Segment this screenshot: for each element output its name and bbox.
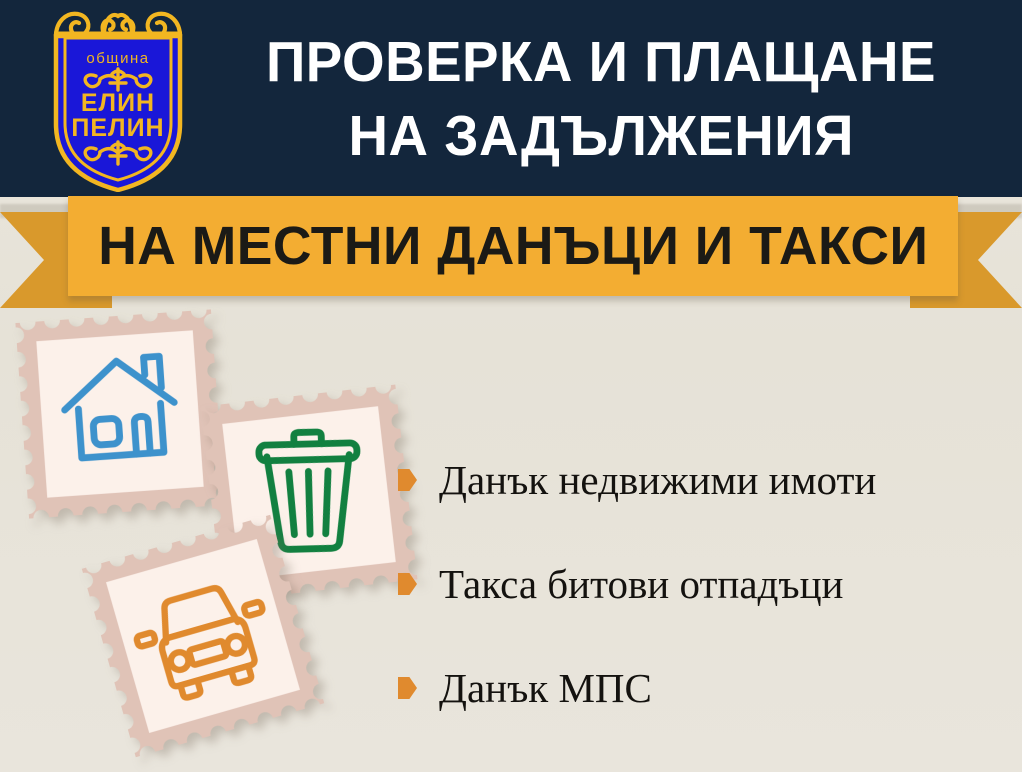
logo: община ЕЛИН ПЕЛИН: [42, 6, 194, 192]
bullet-arrow-icon: [398, 677, 417, 699]
list-item-label: Данък МПС: [439, 665, 652, 711]
page-title-line-1: ПРОВЕРКА И ПЛАЩАНЕ: [266, 25, 936, 99]
stamp-card-property-tax: [15, 309, 224, 518]
ribbon-main-band: НА МЕСТНИ ДАНЪЦИ И ТАКСИ: [68, 196, 958, 296]
poster-root: община ЕЛИН ПЕЛИН ПРОВЕРКА И ПЛАЩАНЕ НА …: [0, 0, 1022, 772]
header-title-group: ПРОВЕРКА И ПЛАЩАНЕ НА ЗАДЪЛЖЕНИЯ: [196, 14, 1006, 184]
ribbon-banner: НА МЕСТНИ ДАНЪЦИ И ТАКСИ: [0, 196, 1022, 308]
ribbon-label: НА МЕСТНИ ДАНЪЦИ И ТАКСИ: [98, 215, 928, 277]
list-item-label: Данък недвижими имоти: [439, 457, 876, 503]
tax-type-list: Данък недвижими имоти Такса битови отпад…: [398, 428, 1008, 740]
page-title-line-2: НА ЗАДЪЛЖЕНИЯ: [348, 99, 853, 173]
header-banner: община ЕЛИН ПЕЛИН ПРОВЕРКА И ПЛАЩАНЕ НА …: [0, 0, 1022, 197]
coat-of-arms-icon: община ЕЛИН ПЕЛИН: [42, 6, 194, 192]
list-item-label: Такса битови отпадъци: [439, 561, 843, 607]
logo-name-line-1: ЕЛИН: [81, 89, 155, 117]
list-item[interactable]: Данък МПС: [398, 636, 1008, 740]
list-item[interactable]: Такса битови отпадъци: [398, 532, 1008, 636]
list-item[interactable]: Данък недвижими имоти: [398, 428, 1008, 532]
bullet-arrow-icon: [398, 469, 417, 491]
bullet-arrow-icon: [398, 573, 417, 595]
logo-community-label: община: [86, 50, 149, 67]
stamp-paper: [36, 330, 203, 497]
logo-name-line-2: ПЕЛИН: [71, 114, 164, 142]
